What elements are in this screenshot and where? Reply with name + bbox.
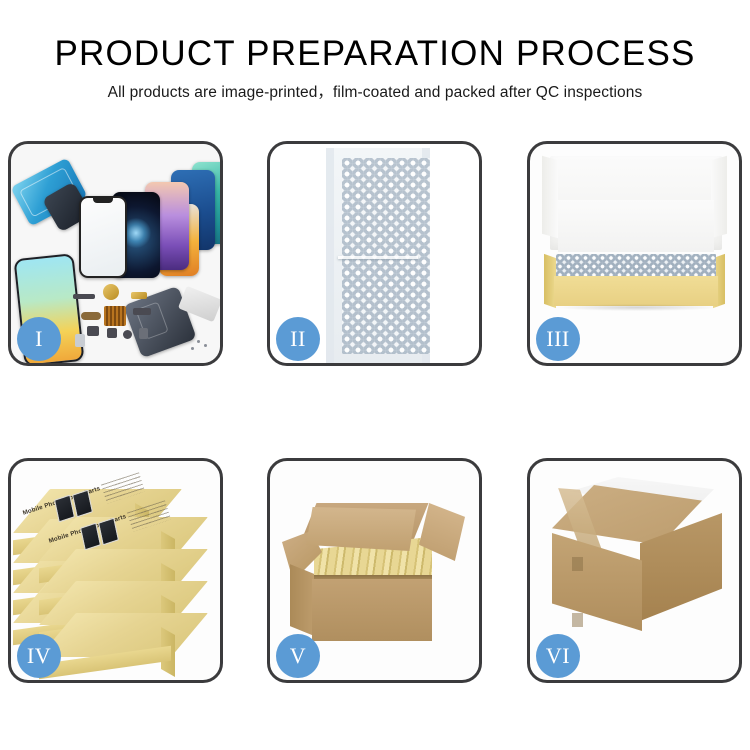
process-step-5: V — [267, 458, 482, 683]
step-badge-3: III — [536, 317, 580, 361]
carton-front-panel — [312, 579, 432, 641]
sealed-carton-front-panel — [552, 533, 642, 631]
carton-seam-mark — [572, 613, 583, 627]
camera-flex-part-icon — [133, 308, 151, 315]
step-badge-5: V — [276, 634, 320, 678]
page-subtitle: All products are image-printed，film-coat… — [0, 83, 750, 103]
process-step-4: Mobile Phone Spare Parts Mobile Phone Sp… — [8, 458, 223, 683]
flex-cable-part-icon — [81, 312, 101, 320]
vibrator-part-icon — [123, 330, 132, 339]
step-badge-2: II — [276, 317, 320, 361]
process-step-3: III — [527, 141, 742, 366]
speaker-part-icon — [103, 284, 119, 300]
process-step-grid: I II — [8, 141, 742, 684]
process-step-6: VI — [527, 458, 742, 683]
pouch-seal-line — [338, 256, 418, 259]
box-drop-shadow — [558, 304, 716, 311]
button-part-icon — [107, 328, 117, 338]
earpiece-mesh-part-icon — [73, 294, 95, 299]
carton-seam-mark — [572, 557, 583, 571]
step-badge-4: IV — [17, 634, 61, 678]
bubble-wrap-pouch-image — [326, 148, 430, 363]
carton-top-open-flap — [306, 507, 416, 551]
screw-part-icon — [191, 347, 194, 350]
product-preparation-page: PRODUCT PREPARATION PROCESS All products… — [0, 0, 750, 750]
tempered-glass-panel-image — [79, 196, 127, 278]
sim-tray-part-icon — [75, 334, 85, 347]
small-bracket-part-icon — [87, 326, 99, 336]
sensor-part-icon — [139, 328, 148, 339]
step-badge-1: I — [17, 317, 61, 361]
page-header: PRODUCT PREPARATION PROCESS All products… — [0, 34, 750, 103]
page-title: PRODUCT PREPARATION PROCESS — [0, 34, 750, 74]
process-step-2: II — [267, 141, 482, 366]
step-badge-6: VI — [536, 634, 580, 678]
logic-board-part-icon — [104, 306, 126, 326]
foam-insert-image — [558, 200, 714, 252]
process-step-1: I — [8, 141, 223, 366]
gold-flex-connector-part-icon — [131, 292, 147, 299]
inner-box-left-flap — [542, 156, 558, 239]
screw-part-icon — [204, 344, 207, 347]
carton-left-side-panel — [290, 564, 314, 636]
inner-box-front-panel — [554, 276, 718, 306]
screw-part-icon — [197, 340, 200, 343]
